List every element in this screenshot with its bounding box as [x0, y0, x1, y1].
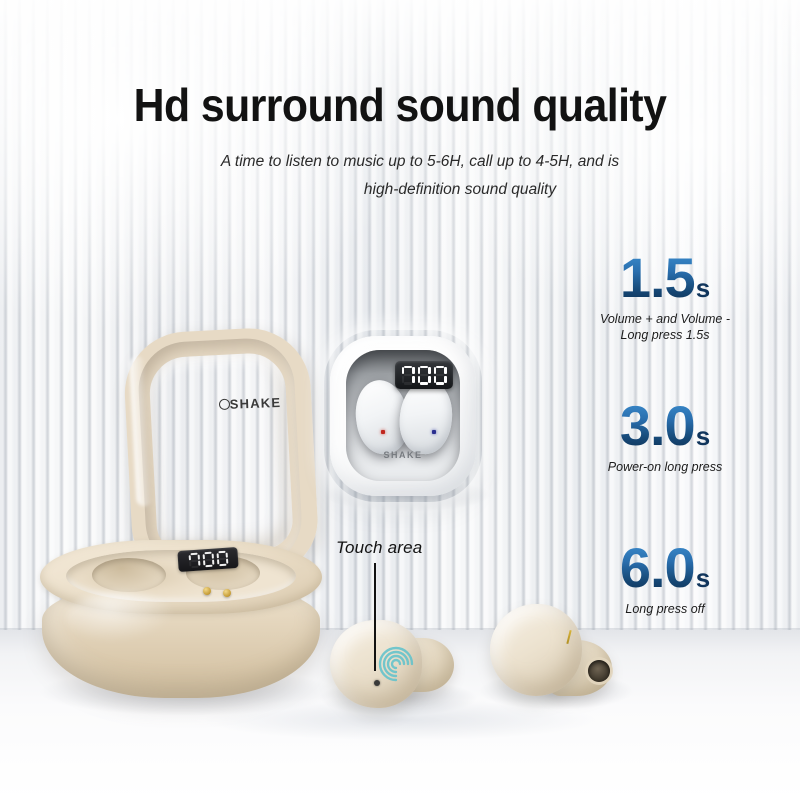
- earbud-left-loose: [330, 612, 462, 712]
- page-title: Hd surround sound quality: [28, 78, 772, 132]
- spec-caption-2-line-1: Power-on long press: [540, 459, 790, 475]
- spec-caption-1: Volume + and Volume - Long press 1.5s: [540, 311, 790, 343]
- led-indicator-red: [381, 430, 385, 434]
- spec-value-1: 1.5: [620, 250, 695, 306]
- page-subtitle: A time to listen to music up to 5-6H, ca…: [0, 148, 800, 204]
- beige-case-highlight: [66, 592, 176, 642]
- earbud-left-mic-hole: [374, 680, 380, 686]
- charging-pin-right: [223, 589, 231, 597]
- beige-digit-3: [216, 551, 228, 567]
- white-digit-1: [402, 366, 415, 385]
- product-marketing-banner: Hd surround sound quality A time to list…: [0, 0, 800, 800]
- spec-unit-2: s: [696, 421, 710, 452]
- spec-caption-1-line-2: Long press 1.5s: [540, 327, 790, 343]
- spec-value-3: 6.0: [620, 540, 695, 596]
- beige-socket-left: [92, 558, 166, 592]
- beige-case-battery-display: [177, 547, 238, 572]
- subtitle-line-1: A time to listen to music up to 5-6H, ca…: [0, 148, 800, 176]
- spec-unit-1: s: [696, 273, 710, 304]
- white-case-earbud-right: [396, 377, 455, 456]
- brand-logo-text: SHAKE: [229, 395, 281, 412]
- spec-caption-3: Long press off: [540, 601, 790, 617]
- spec-unit-3: s: [696, 563, 710, 594]
- touch-area-label: Touch area: [336, 538, 496, 558]
- spec-caption-3-line-1: Long press off: [540, 601, 790, 617]
- white-digit-2: [418, 366, 431, 385]
- spec-caption-2: Power-on long press: [540, 459, 790, 475]
- spec-item-power-on: 3.0s Power-on long press: [540, 398, 790, 475]
- spec-item-volume: 1.5s Volume + and Volume - Long press 1.…: [540, 250, 790, 343]
- spec-item-power-off: 6.0s Long press off: [540, 540, 790, 617]
- earbud-right-loose: [490, 604, 618, 708]
- subtitle-line-2: high-definition sound quality: [0, 176, 800, 204]
- white-case-battery-display: [395, 361, 453, 389]
- charging-pin-left: [203, 587, 211, 595]
- white-digit-3: [434, 366, 447, 385]
- beige-digit-2: [202, 552, 214, 568]
- beige-charging-pins: [203, 586, 243, 598]
- beige-digit-1: [188, 553, 200, 569]
- touch-area-leader-line: [374, 563, 376, 671]
- spec-caption-1-line-1: Volume + and Volume -: [540, 311, 790, 327]
- earbud-right-sound-port: [588, 660, 610, 682]
- white-charging-case: SHAKE: [330, 336, 476, 496]
- white-case-interior: SHAKE: [346, 350, 460, 481]
- brand-mark-icon: [219, 399, 230, 410]
- earbud-right-body: [490, 604, 582, 696]
- beige-lid-inner-shadow: [136, 336, 304, 572]
- spec-value-2: 3.0: [620, 398, 695, 454]
- brand-logo-lid: SHAKE: [205, 394, 295, 412]
- brand-logo-white-case: SHAKE: [346, 450, 460, 460]
- led-indicator-blue: [432, 430, 436, 434]
